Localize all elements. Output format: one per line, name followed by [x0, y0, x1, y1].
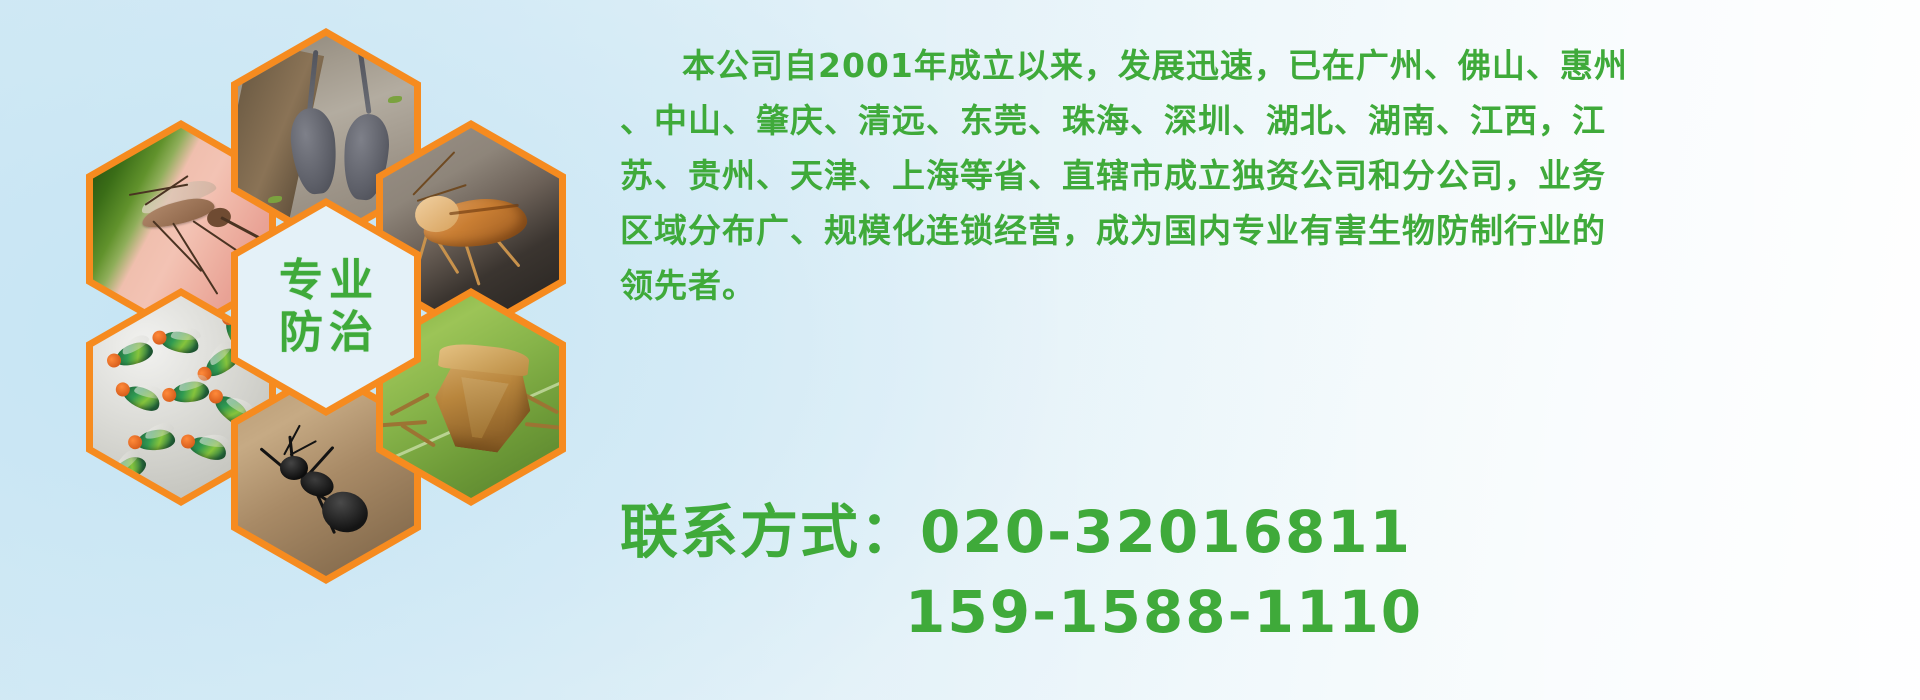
- mosquito-proboscis-shape: [220, 216, 260, 239]
- ant-antenna-shape: [290, 440, 317, 456]
- cockroach-leg-shape: [464, 241, 481, 286]
- stinkbug-leg-shape: [389, 392, 430, 416]
- description-line-4: 区域分布广、规模化连锁经营，成为国内专业有害生物防制行业的: [620, 203, 1910, 258]
- rat-tail-shape: [357, 48, 371, 114]
- fly-shape: [107, 452, 150, 488]
- honeycomb-image-cluster: 专业 防治: [86, 8, 586, 568]
- hand-shape: [360, 36, 406, 62]
- fly-shape: [159, 328, 200, 355]
- phone-landline[interactable]: 020-32016811: [920, 498, 1412, 566]
- fly-shape: [170, 379, 210, 404]
- fly-shape: [187, 433, 229, 464]
- fly-shape: [121, 381, 164, 415]
- description-line-2: 、中山、肇庆、清远、东莞、珠海、深圳、湖北、湖南、江西，江: [620, 93, 1910, 148]
- description-line-3: 苏、贵州、天津、上海等省、直辖市成立独资公司和分公司，业务: [620, 148, 1910, 203]
- contact-primary-line: 联系方式：020-32016811: [620, 492, 1910, 572]
- leaf-debris-shape: [388, 96, 402, 103]
- slogan-container: 专业 防治: [238, 206, 414, 408]
- fly-shape: [136, 428, 176, 452]
- description-line-1: 本公司自2001年成立以来，发展迅速，已在广州、佛山、惠州: [620, 38, 1910, 93]
- stinkbug-leg-shape: [525, 422, 559, 430]
- company-description: 本公司自2001年成立以来，发展迅速，已在广州、佛山、惠州 、中山、肇庆、清远、…: [620, 38, 1910, 313]
- contact-label: 联系方式：: [620, 498, 920, 566]
- promotional-banner: 专业 防治 本公司自2001年成立以来，发展迅速，已在广州、佛山、惠州 、中山、…: [0, 0, 1920, 700]
- description-line-5: 领先者。: [620, 258, 1910, 313]
- description-line-1-text: 本公司自2001年成立以来，发展迅速，已在广州、佛山、惠州: [682, 46, 1628, 85]
- ant-head-shape: [280, 456, 308, 480]
- phone-mobile[interactable]: 159-1588-1110: [620, 572, 1910, 652]
- fly-shape: [113, 339, 155, 370]
- slogan-line-1: 专业: [273, 258, 379, 304]
- contact-block: 联系方式：020-32016811 159-1588-1110: [620, 492, 1910, 652]
- slogan-line-2: 防治: [273, 310, 379, 356]
